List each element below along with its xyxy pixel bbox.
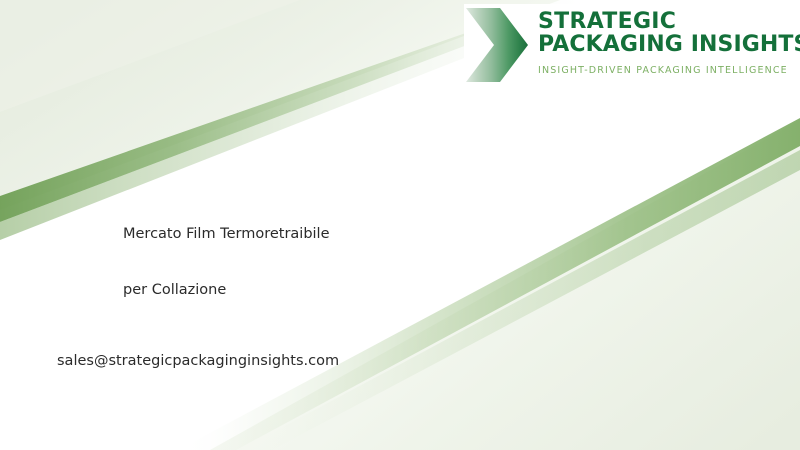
contact-email: sales@strategicpackaginginsights.com xyxy=(57,352,339,370)
report-title-line-2: per Collazione xyxy=(123,281,226,299)
slide-body-text: Mercato Film Termoretraibile per Collazi… xyxy=(0,0,800,450)
report-title-line-1: Mercato Film Termoretraibile xyxy=(123,225,330,243)
slide-canvas: STRATEGIC PACKAGING INSIGHTS INSIGHT-DRI… xyxy=(0,0,800,450)
